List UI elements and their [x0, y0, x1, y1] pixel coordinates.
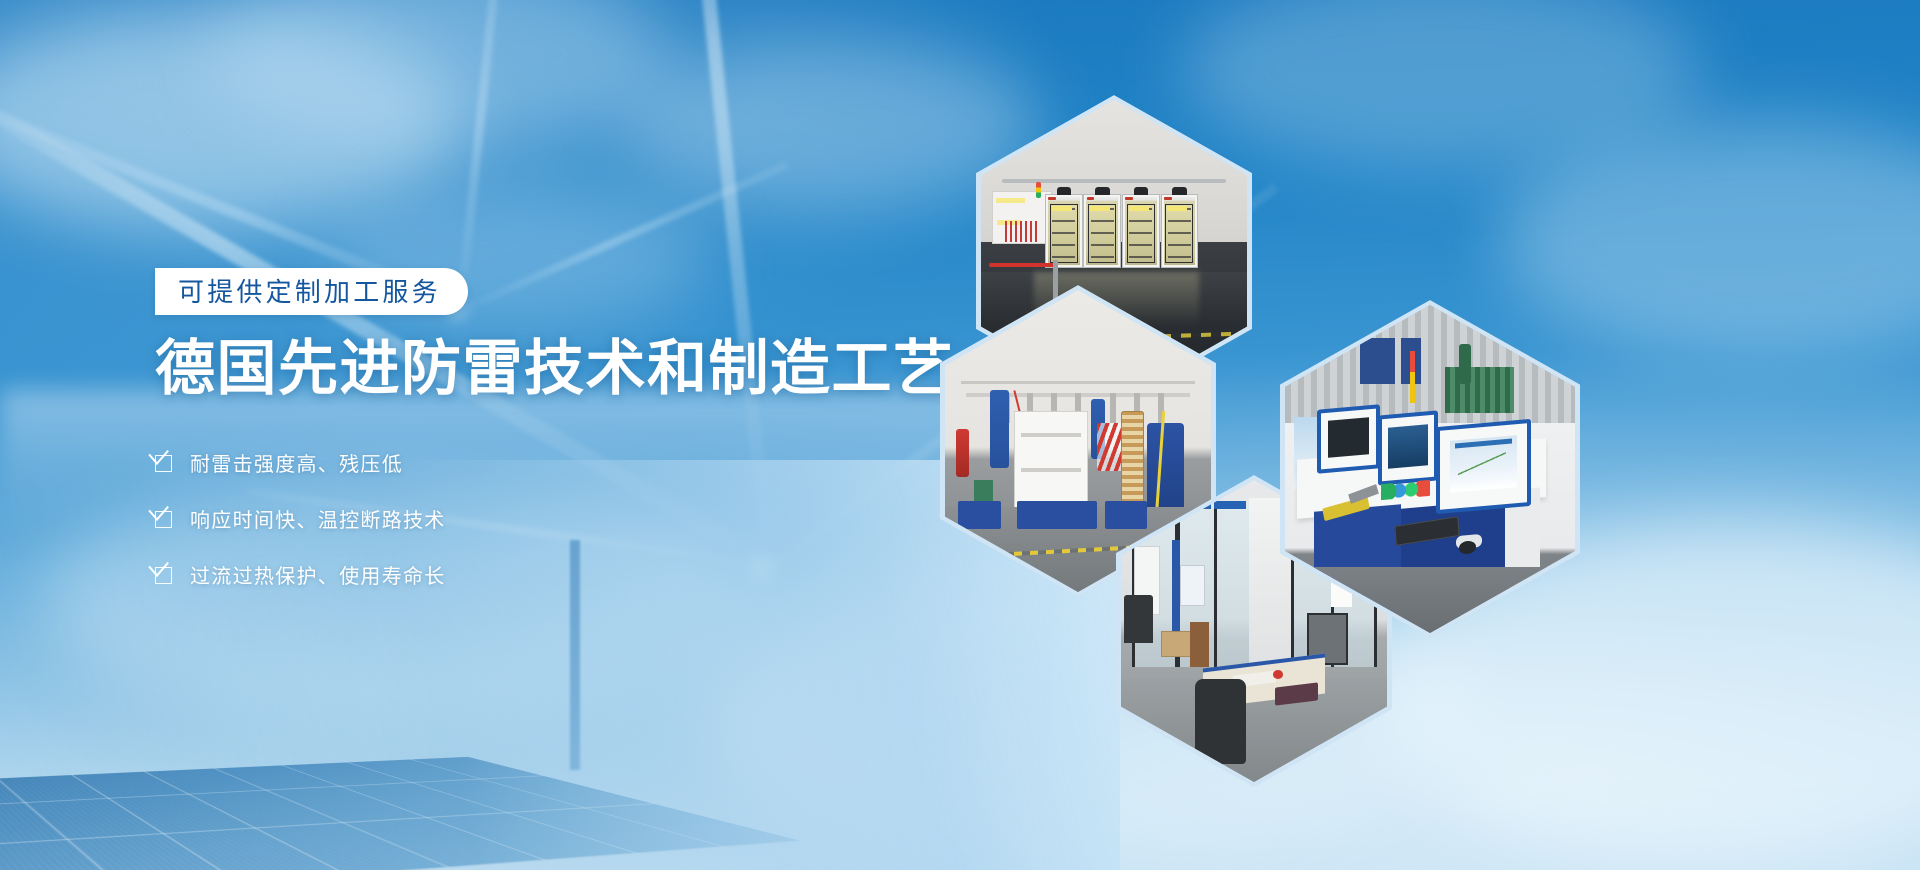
solar-panel-array [0, 757, 803, 870]
feature-label: 耐雷击强度高、残压低 [190, 448, 403, 477]
hero-copy: 可提供定制加工服务 德国先进防雷技术和制造工艺 耐雷击强度高、残压低 响应时间快… [155, 268, 915, 589]
page-title: 德国先进防雷技术和制造工艺 [155, 335, 915, 402]
feature-label: 响应时间快、温控断路技术 [190, 504, 446, 533]
hexagon-photo-gallery [940, 95, 1600, 775]
feature-list: 耐雷击强度高、残压低 响应时间快、温控断路技术 过流过热保护、使用寿命长 [155, 448, 915, 589]
cloud-shape [0, 10, 460, 230]
checkbox-checked-icon [155, 453, 174, 472]
list-item: 耐雷击强度高、残压低 [155, 448, 915, 477]
checkbox-checked-icon [155, 509, 174, 528]
feature-label: 过流过热保护、使用寿命长 [190, 560, 446, 589]
hero-banner: 可提供定制加工服务 德国先进防雷技术和制造工艺 耐雷击强度高、残压低 响应时间快… [0, 0, 1920, 870]
list-item: 响应时间快、温控断路技术 [155, 504, 915, 533]
checkbox-checked-icon [155, 565, 174, 584]
list-item: 过流过热保护、使用寿命长 [155, 560, 915, 589]
custom-service-tag-label: 可提供定制加工服务 [178, 279, 441, 305]
custom-service-tag: 可提供定制加工服务 [155, 268, 468, 315]
cloud-shape [210, 0, 670, 150]
